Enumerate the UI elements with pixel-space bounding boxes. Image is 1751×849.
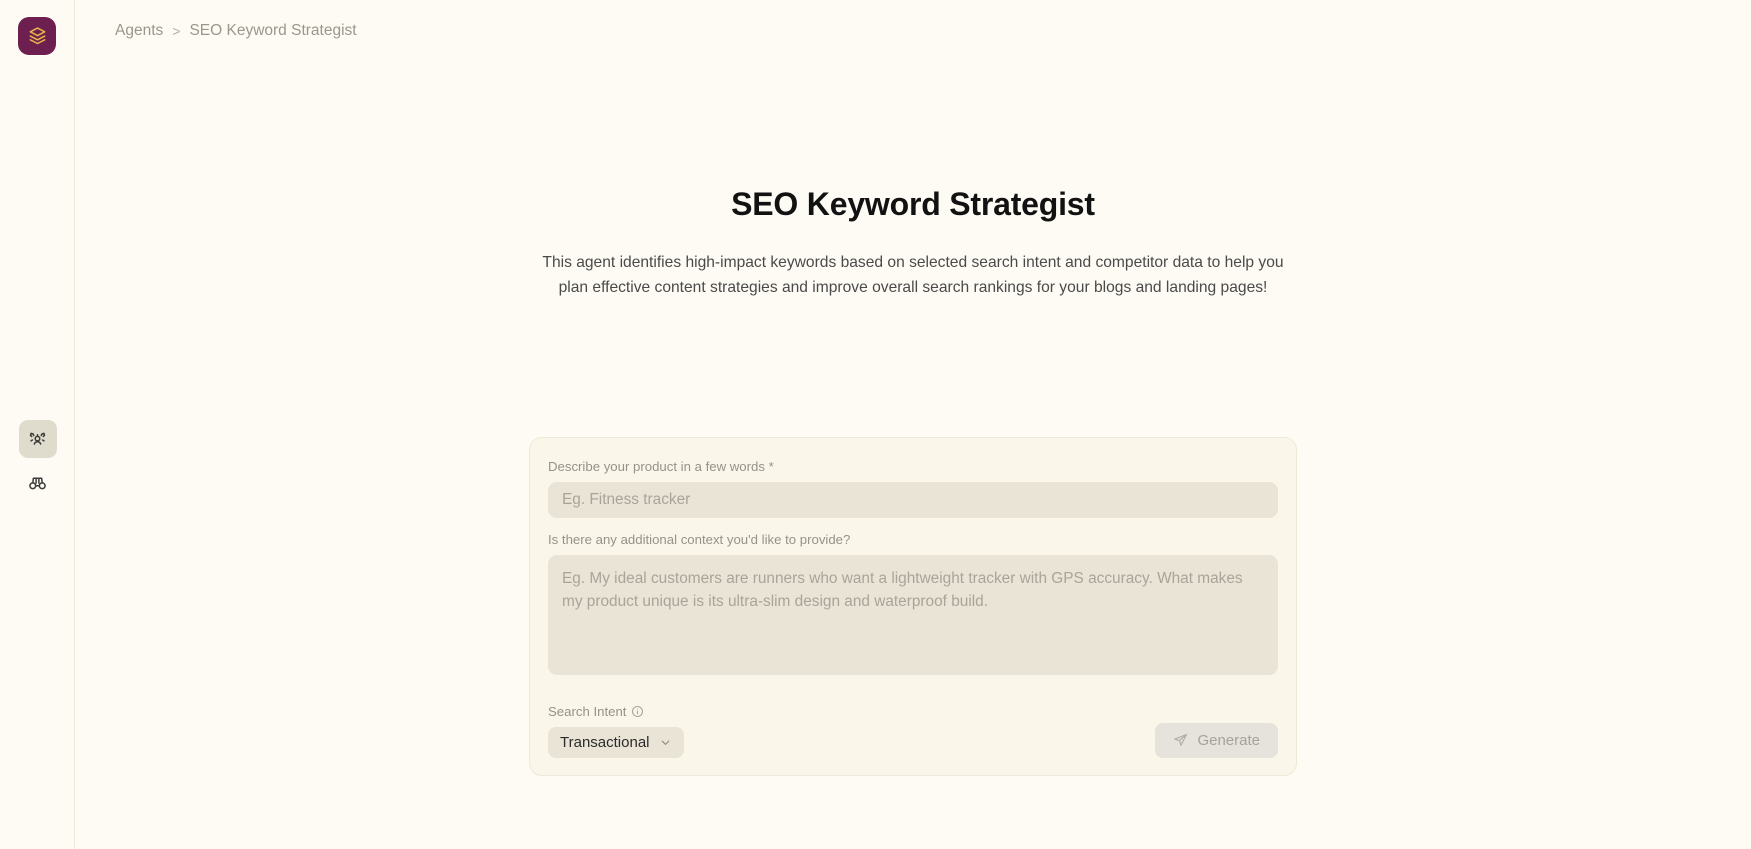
sidebar-item-discover[interactable]: Discover <box>19 464 57 502</box>
intent-and-actions-row: Search Intent Transactional <box>548 704 1278 758</box>
agent-input-card: Describe your product in a few words * I… <box>529 437 1297 776</box>
agents-group-icon <box>27 429 48 450</box>
info-circle-icon[interactable] <box>631 705 644 718</box>
search-intent-select[interactable]: Transactional <box>548 727 684 758</box>
generate-button[interactable]: Generate <box>1155 723 1278 758</box>
search-intent-label-row: Search Intent <box>548 704 684 719</box>
page-title: SEO Keyword Strategist <box>75 185 1751 223</box>
context-textarea[interactable] <box>548 555 1278 675</box>
sidebar: Agents Discover <box>0 0 75 849</box>
page-description: This agent identifies high-impact keywor… <box>533 251 1293 299</box>
hero-section: SEO Keyword Strategist This agent identi… <box>75 185 1751 300</box>
search-intent-selected-value: Transactional <box>560 734 650 751</box>
breadcrumb-separator: > <box>172 23 180 39</box>
chevron-down-icon <box>659 736 672 749</box>
main-content: Agents > SEO Keyword Strategist SEO Keyw… <box>75 0 1751 849</box>
binoculars-icon <box>27 473 48 494</box>
app-logo[interactable] <box>18 17 56 55</box>
breadcrumb-parent-link[interactable]: Agents <box>115 22 163 40</box>
breadcrumb: Agents > SEO Keyword Strategist <box>115 22 357 40</box>
product-input[interactable] <box>548 482 1278 518</box>
generate-button-label: Generate <box>1197 732 1260 749</box>
send-paper-plane-icon <box>1173 733 1188 748</box>
breadcrumb-current: SEO Keyword Strategist <box>189 22 356 40</box>
layered-hexagon-logo-icon <box>26 25 49 48</box>
sidebar-item-agents[interactable]: Agents <box>19 420 57 458</box>
product-field-label: Describe your product in a few words * <box>548 459 1278 474</box>
context-field-label: Is there any additional context you'd li… <box>548 532 1278 547</box>
field-spacer <box>548 518 1278 532</box>
search-intent-label: Search Intent <box>548 704 626 719</box>
sidebar-nav: Agents Discover <box>0 420 75 502</box>
search-intent-group: Search Intent Transactional <box>548 704 684 758</box>
